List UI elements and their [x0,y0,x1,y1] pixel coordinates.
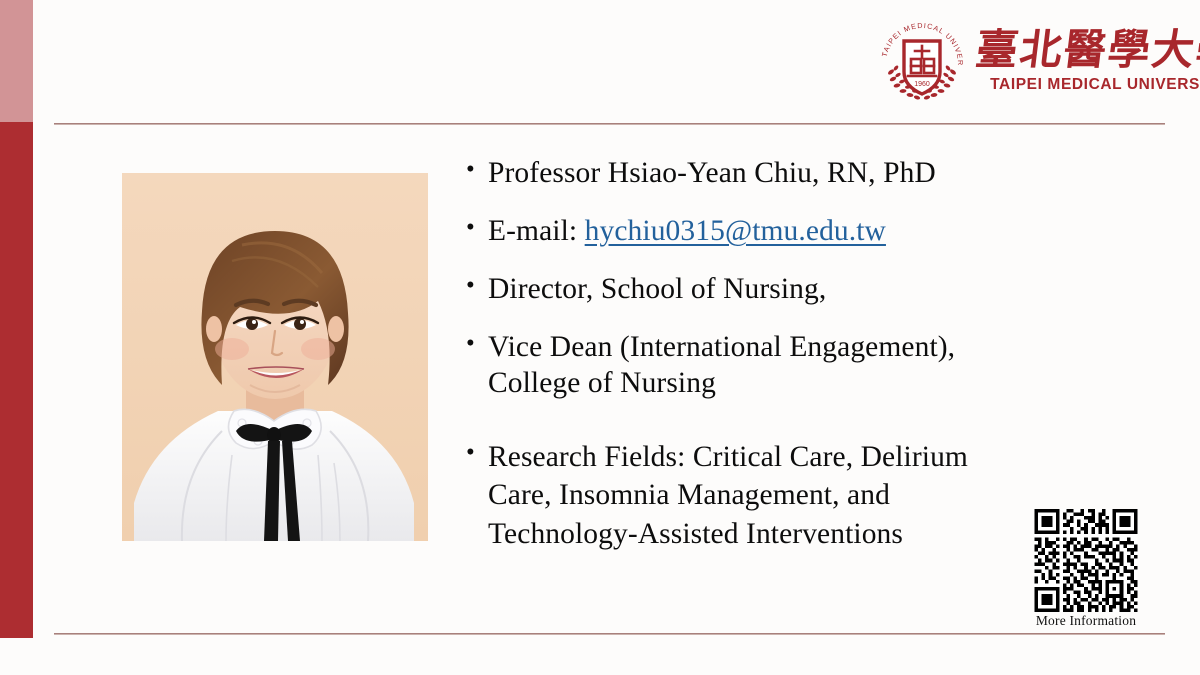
slide-canvas: TAIPEI MEDICAL UNIVERSITY [0,0,1200,675]
left-accent-bar-bottom [0,122,33,638]
bullet-director-role: Director, School of Nursing, [462,272,1062,308]
director-role: Director, School of Nursing, [488,273,826,305]
bullet-vice-dean-role: Vice Dean (International Engagement), Co… [462,330,1062,402]
email-label: E-mail: [488,215,577,247]
more-information-block[interactable]: More Information [1033,509,1139,629]
qr-caption: More Information [1033,613,1139,629]
professor-portrait [122,173,428,541]
vice-dean-role-line-2: College of Nursing [488,366,1062,402]
email-link[interactable]: hychiu0315@tmu.edu.tw [585,215,886,247]
emblem-year: 1960 [914,81,930,88]
logo-wordmark: 臺北醫學大學 TAIPEI MEDICAL UNIVERSITY [976,27,1200,93]
bullet-spacer [462,402,1062,438]
research-fields-line-3: Technology-Assisted Interventions [488,515,1062,553]
left-accent-bar-top [0,0,33,122]
bullet-name: Professor Hsiao-Yean Chiu, RN, PhD [462,156,1062,192]
profile-bullet-list: Professor Hsiao-Yean Chiu, RN, PhD E-mai… [462,156,1062,553]
research-fields-line-1: Research Fields: Critical Care, Delirium [488,438,1062,476]
logo-chinese-name: 臺北醫學大學 [973,27,1200,72]
logo-english-name: TAIPEI MEDICAL UNIVERSITY [990,76,1200,94]
research-fields-line-2: Care, Insomnia Management, and [488,476,1062,514]
professor-name: Professor Hsiao-Yean Chiu, RN, PhD [488,157,936,189]
vice-dean-role-line-1: Vice Dean (International Engagement), [488,330,1062,366]
university-emblem-icon: TAIPEI MEDICAL UNIVERSITY [874,14,970,108]
bullet-email: E-mail: hychiu0315@tmu.edu.tw [462,214,1062,250]
university-logo: TAIPEI MEDICAL UNIVERSITY [874,12,1154,109]
divider-top [54,123,1165,125]
bullet-research-fields: Research Fields: Critical Care, Delirium… [462,438,1062,553]
divider-bottom [54,633,1165,635]
more-information-qr-code[interactable] [1033,509,1139,612]
